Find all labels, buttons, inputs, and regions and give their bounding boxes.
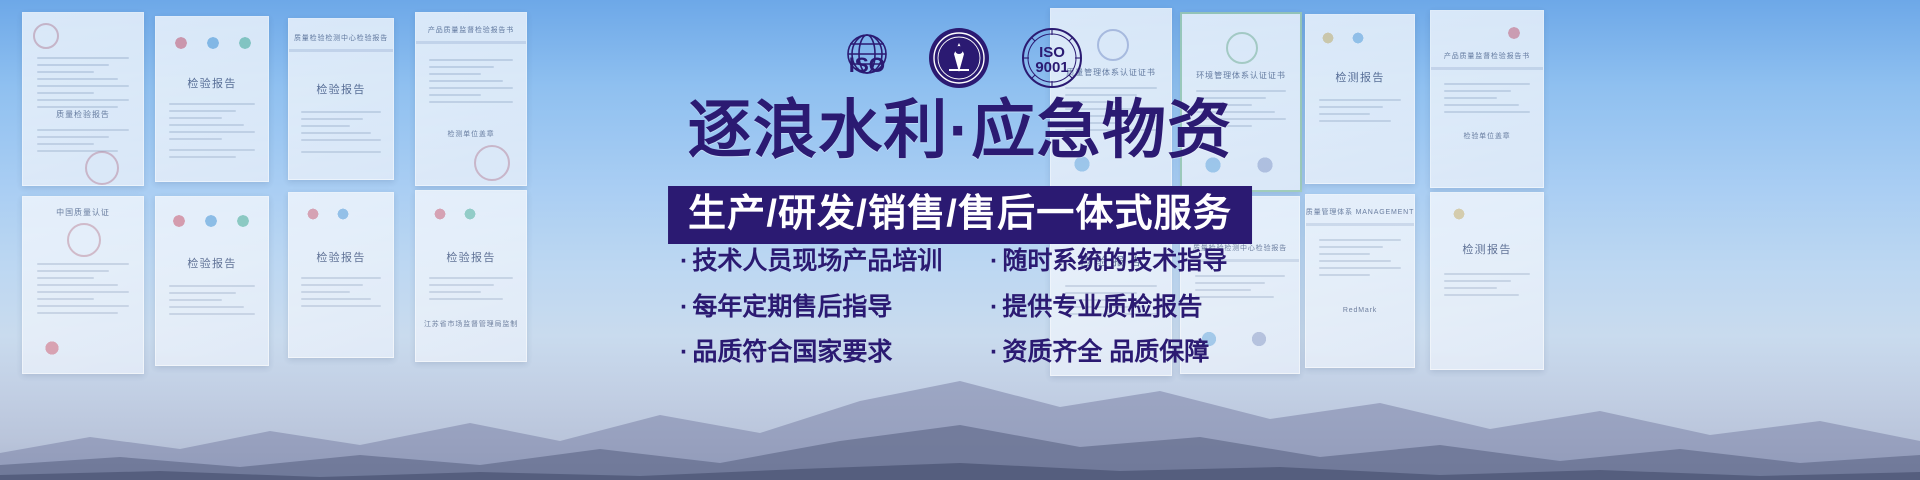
headline-text: 逐浪水利·应急物资 (688, 98, 1233, 162)
bullet-dot: · (990, 293, 998, 321)
certificate-tile: 检测报告 (1430, 192, 1544, 370)
certification-badges: ISO ISO (0, 26, 1920, 95)
feature-item: ·品质符合国家要求 (680, 339, 970, 367)
bullet-dot: · (990, 247, 998, 275)
certificate-tile: 检验报告 (155, 196, 269, 366)
iso-9001-badge: ISO 9001 (1021, 27, 1083, 94)
bullet-dot: · (680, 247, 688, 275)
bullet-dot: · (680, 338, 688, 366)
feature-item: ·资质齐全 品质保障 (990, 339, 1240, 367)
certificate-tile: 质量管理体系 MANAGEMENT RedMark (1305, 194, 1415, 368)
iso-globe-badge-text: ISO (849, 54, 885, 77)
certificate-tile: 检验报告 江苏省市场监督管理局监制 (415, 190, 527, 362)
promo-banner: 质量检验报告 检验报告 质量检验检测中心检验报告 检验报告 产品质量监督检验报告… (0, 0, 1920, 480)
feature-text: 品质符合国家要求 (692, 338, 892, 366)
feature-item: ·提供专业质检报告 (990, 294, 1240, 322)
certificate-tile: 检验报告 (288, 192, 394, 358)
feature-row: ·技术人员现场产品培训 ·随时系统的技术指导 (680, 248, 1240, 276)
feature-item: ·每年定期售后指导 (680, 294, 970, 322)
bullet-dot: · (680, 293, 688, 321)
iso-globe-badge: ISO (837, 28, 897, 93)
feature-item: ·随时系统的技术指导 (990, 248, 1240, 276)
round-seal-badge (927, 26, 991, 95)
feature-text: 资质齐全 品质保障 (1002, 338, 1209, 366)
feature-text: 每年定期售后指导 (692, 293, 892, 321)
iso-9001-badge-line2: 9001 (1035, 59, 1068, 76)
subtitle-bar: 生产/研发/销售/售后一体式服务 (668, 186, 1252, 244)
banner-headline: 逐浪水利·应急物资 (0, 98, 1920, 162)
feature-text: 随时系统的技术指导 (1002, 247, 1227, 275)
feature-text: 提供专业质检报告 (1002, 293, 1202, 321)
feature-item: ·技术人员现场产品培训 (680, 248, 970, 276)
feature-list: ·技术人员现场产品培训 ·随时系统的技术指导 ·每年定期售后指导 ·提供专业质检… (680, 248, 1240, 385)
bullet-dot: · (990, 338, 998, 366)
subtitle-bar-text: 生产/研发/销售/售后一体式服务 (688, 193, 1232, 235)
feature-text: 技术人员现场产品培训 (692, 247, 942, 275)
feature-row: ·品质符合国家要求 ·资质齐全 品质保障 (680, 339, 1240, 367)
feature-row: ·每年定期售后指导 ·提供专业质检报告 (680, 294, 1240, 322)
